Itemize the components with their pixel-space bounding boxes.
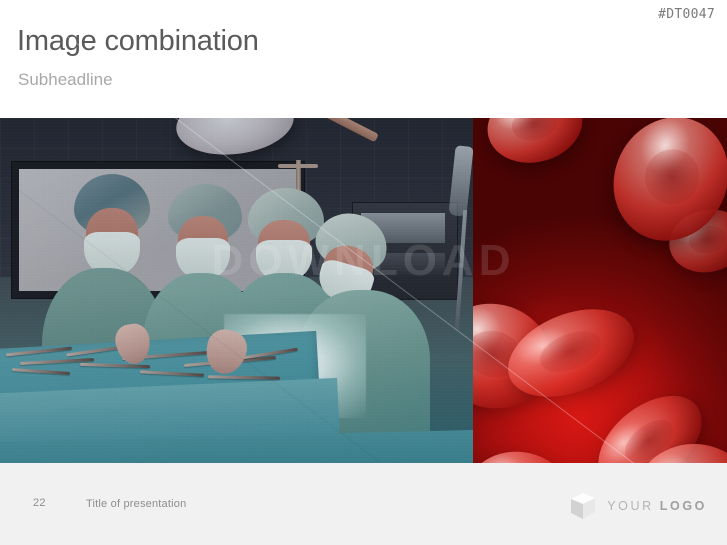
- logo-word-your: YOUR: [607, 499, 654, 513]
- surgical-team-photo: [0, 118, 473, 463]
- photo-grain: [0, 118, 473, 463]
- page-subheadline[interactable]: Subheadline: [18, 70, 113, 90]
- template-reference-code: #DT0047: [658, 7, 715, 22]
- red-blood-cell: [479, 118, 590, 173]
- red-blood-cells-photo: [473, 118, 727, 463]
- logo-placeholder[interactable]: YOUR LOGO: [570, 492, 707, 520]
- cube-logo-icon: [570, 492, 596, 520]
- logo-word-logo: LOGO: [660, 499, 707, 513]
- red-blood-cell: [473, 445, 576, 463]
- image-placeholder-right[interactable]: [473, 118, 727, 463]
- image-combination-band: [0, 118, 727, 463]
- slide: #DT0047 Image combination Subheadline: [0, 0, 727, 545]
- logo-text: YOUR LOGO: [607, 499, 707, 513]
- slide-header: #DT0047 Image combination Subheadline: [0, 0, 727, 118]
- footer-presentation-title[interactable]: Title of presentation: [86, 498, 186, 510]
- slide-number: 22: [33, 497, 46, 509]
- image-placeholder-left[interactable]: [0, 118, 473, 463]
- page-title[interactable]: Image combination: [17, 26, 259, 58]
